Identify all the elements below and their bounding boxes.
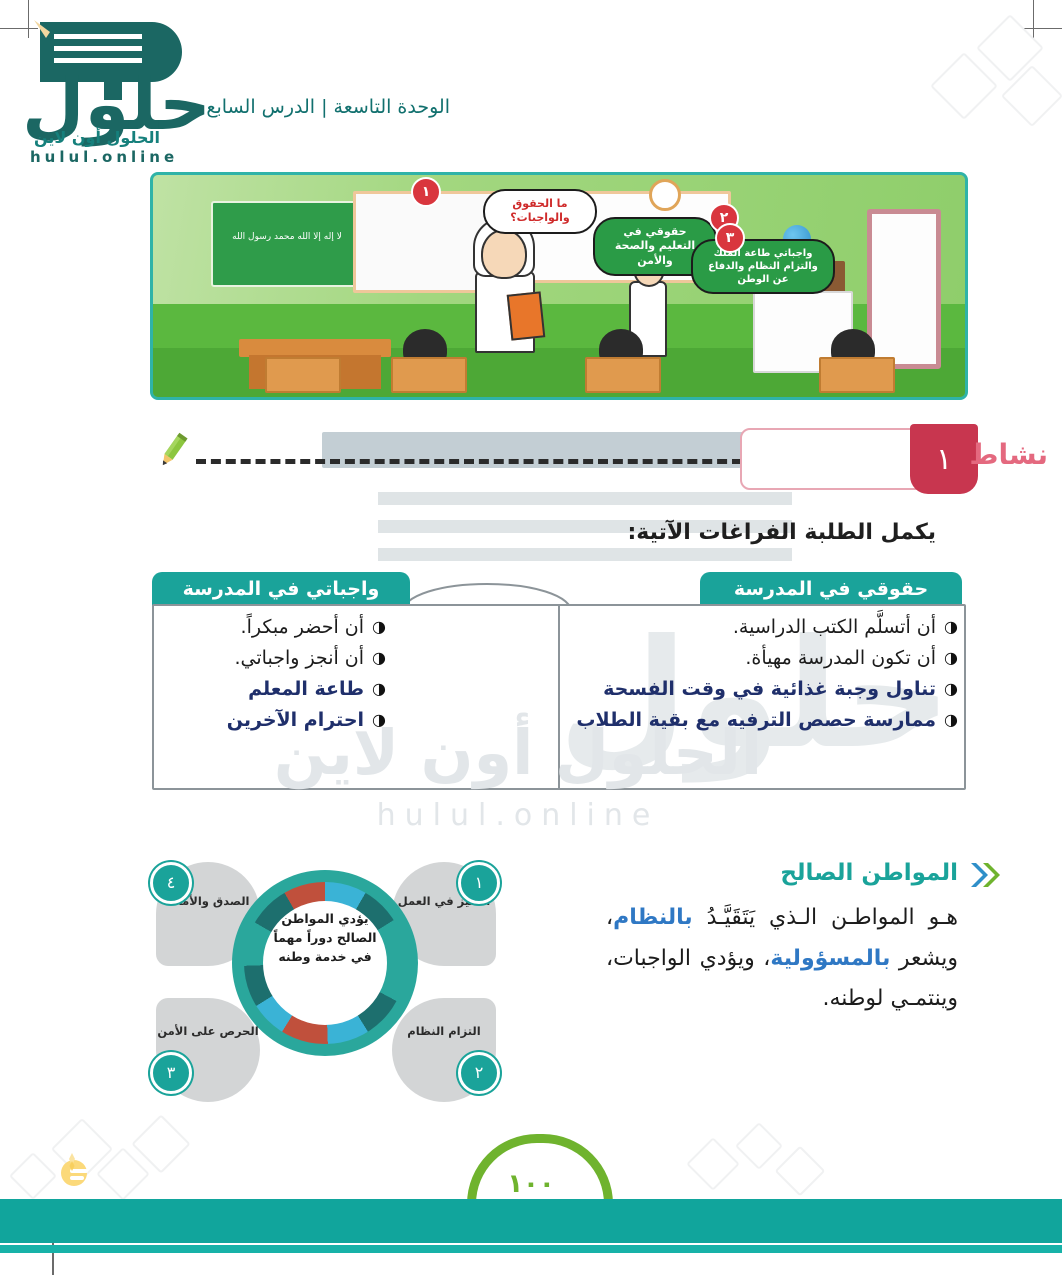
chair [265, 357, 341, 393]
logo-subtitle-ar: الحلول أون لاين [34, 128, 160, 147]
table-column-divider [558, 606, 560, 788]
list-item: ◑ أن أحضر مبكراً. [158, 616, 386, 638]
activity-instruction: يكمل الطلبة الفراغات الآتية: [627, 520, 936, 545]
decorative-diamond [9, 1152, 57, 1200]
bullet-icon: ◑ [372, 709, 386, 731]
crop-mark-tr-h [1024, 28, 1062, 29]
chalkboard: لا إله إلا الله محمد رسول الله [211, 201, 365, 287]
list-item: ◑ تناول وجبة غذائية في وقت الفسحة [570, 678, 958, 700]
bullet-icon: ◑ [944, 678, 958, 700]
section-body: هـو المواطـن الـذي يَتَقَيَّـدُ بالنظام،… [606, 898, 958, 1020]
list-item: ◑ ممارسة حصص الترفيه مع بقية الطلاب [570, 709, 958, 731]
activity-dashed-line [196, 459, 742, 464]
footer-band [0, 1199, 1062, 1243]
page-number: ١٠٠ [467, 1169, 595, 1199]
activity-label: نشاط [969, 438, 1048, 471]
activity-strip-line [378, 548, 792, 561]
diagram-label-2: التزام النظام [392, 1024, 496, 1040]
list-item: ◑ أن تكون المدرسة مهيأة. [570, 647, 958, 669]
chevron-left-icon [970, 862, 1000, 888]
bullet-icon: ◑ [944, 709, 958, 731]
pencil-icon [152, 432, 192, 472]
list-item: ◑ طاعة المعلم [158, 678, 386, 700]
decorative-diamond [686, 1137, 740, 1191]
center-watermark-english: hulul.online [238, 798, 798, 833]
crop-mark-tr-v [1033, 0, 1034, 38]
body-highlight-2: بالمسؤولية [770, 946, 890, 971]
bubble-number-3: ٣ [715, 223, 745, 253]
table-header-duties: واجباتي في المدرسة [152, 572, 410, 606]
teacher-folder [507, 291, 546, 340]
saudi-flag: لا إله إلا الله محمد رسول الله [225, 217, 349, 257]
duty-text: أن أنجز واجباتي. [158, 647, 364, 669]
teacher-head [481, 229, 527, 279]
chair [391, 357, 467, 393]
speech-bubble-1: ما الحقوق والواجبات؟ [483, 189, 597, 234]
list-item: ◑ احترام الآخرين [158, 709, 386, 731]
good-citizen-diagram: يؤدي المواطن الصالح دوراً مهماً في خدمة … [140, 848, 510, 1118]
right-answer[interactable]: ممارسة حصص الترفيه مع بقية الطلاب [570, 709, 936, 731]
bullet-icon: ◑ [944, 616, 958, 638]
diagram-center-text: يؤدي المواطن الصالح دوراً مهماً في خدمة … [268, 910, 382, 966]
bubble-number-1: ١ [411, 177, 441, 207]
footer-band-secondary [0, 1245, 1062, 1253]
decorative-diamond [775, 1146, 826, 1197]
footer-ornament-icon [52, 1147, 96, 1191]
wall-clock-icon [649, 179, 681, 211]
bullet-icon: ◑ [944, 647, 958, 669]
body-highlight-1: بالنظام [613, 905, 693, 930]
diagram-number-3: ٣ [150, 1052, 192, 1094]
page-header-breadcrumb: الوحدة التاسعة | الدرس السابع [206, 96, 450, 118]
classroom-illustration: لا إله إلا الله محمد رسول الله ما الحقوق… [150, 172, 968, 400]
diagram-number-2: ٢ [458, 1052, 500, 1094]
duty-text: أن أحضر مبكراً. [158, 616, 364, 638]
decorative-diamond [735, 1122, 783, 1170]
textbook-page: الوحدة التاسعة | الدرس السابع حلول الحلو… [0, 0, 1062, 1275]
speech-bubble-3: واجباتي طاعة الملك والتزام النظام والدفا… [691, 239, 835, 294]
duties-column: ◑ أن أحضر مبكراً. ◑ أن أنجز واجباتي. ◑ ط… [158, 616, 386, 740]
rights-column: ◑ أن أتسلَّم الكتب الدراسية. ◑ أن تكون ا… [570, 616, 958, 740]
section-heading: المواطن الصالح [780, 860, 958, 886]
body-part-1: هـو المواطـن الـذي يَتَقَيَّـدُ [693, 905, 958, 930]
activity-badge [740, 428, 934, 490]
bullet-icon: ◑ [372, 647, 386, 669]
chair [585, 357, 661, 393]
diagram-number-1: ١ [458, 862, 500, 904]
right-answer[interactable]: تناول وجبة غذائية في وقت الفسحة [570, 678, 936, 700]
bullet-icon: ◑ [372, 678, 386, 700]
right-text: أن أتسلَّم الكتب الدراسية. [570, 616, 936, 638]
bullet-icon: ◑ [372, 616, 386, 638]
activity-strip-line [378, 492, 792, 505]
decorative-diamond [930, 52, 998, 120]
diagram-number-4: ٤ [150, 862, 192, 904]
list-item: ◑ أن أتسلَّم الكتب الدراسية. [570, 616, 958, 638]
duty-answer[interactable]: طاعة المعلم [158, 678, 364, 700]
chair [819, 357, 895, 393]
classroom-door [867, 209, 941, 369]
activity-number: ١ [910, 424, 978, 494]
list-item: ◑ أن أنجز واجباتي. [158, 647, 386, 669]
diagram-label-3: الحرص على الأمن [156, 1024, 260, 1040]
hulul-logo: حلول الحلول أون لاين hulul.online [14, 10, 204, 160]
duty-answer[interactable]: احترام الآخرين [158, 709, 364, 731]
table-header-rights: حقوقي في المدرسة [700, 572, 962, 606]
right-text: أن تكون المدرسة مهيأة. [570, 647, 936, 669]
logo-subtitle-en: hulul.online [30, 148, 178, 166]
